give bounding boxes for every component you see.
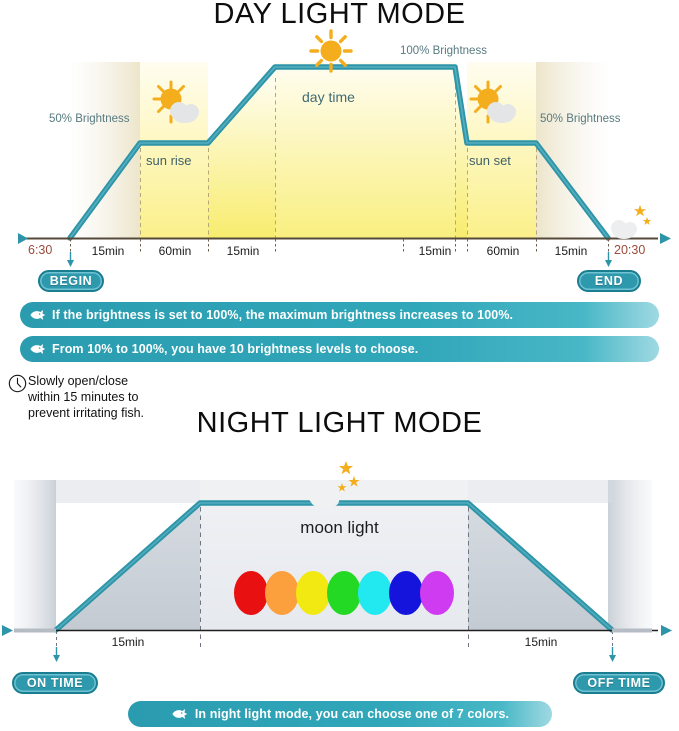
sun-behind-cloud-icon [147, 78, 207, 132]
infographic-root: DAY LIGHT MODE [0, 0, 679, 731]
info-banner[interactable]: If the brightness is set to 100%, the ma… [20, 302, 659, 328]
moon-stars-cloud-icon [607, 200, 655, 242]
begin-badge[interactable]: BEGIN [38, 270, 104, 292]
fish-icon [171, 708, 188, 720]
sun-set-label: sun set [469, 153, 511, 168]
fish-icon [29, 309, 46, 321]
night-info-banner[interactable]: In night light mode, you can choose one … [128, 701, 552, 727]
color-swatch-green[interactable] [327, 571, 361, 615]
segment-label: 60min [144, 244, 206, 258]
color-swatch-yellow[interactable] [296, 571, 330, 615]
segment-label: 15min [510, 635, 572, 649]
color-swatch-blue[interactable] [389, 571, 423, 615]
end-time-label: 20:30 [614, 243, 645, 257]
segment-label: 15min [77, 244, 139, 258]
right-brightness-label: 50% Brightness [540, 113, 621, 125]
peak-brightness-label: 100% Brightness [400, 45, 487, 57]
banner-text: From 10% to 100%, you have 10 brightness… [52, 342, 418, 356]
banner-text: If the brightness is set to 100%, the ma… [52, 308, 513, 322]
info-banner[interactable]: From 10% to 100%, you have 10 brightness… [20, 336, 659, 362]
color-swatch-magenta[interactable] [420, 571, 454, 615]
on-time-badge[interactable]: ON TIME [12, 672, 98, 694]
color-swatch-row [234, 566, 452, 620]
end-badge[interactable]: END [577, 270, 641, 292]
segment-label: 15min [540, 244, 602, 258]
sun-icon [303, 28, 359, 74]
note-line: within 15 minutes to [28, 389, 138, 405]
segment-label: 15min [97, 635, 159, 649]
fish-icon [29, 343, 46, 355]
segment-label: 15min [404, 244, 466, 258]
moon-stars-cloud-icon [302, 459, 366, 513]
sun-behind-cloud-icon [464, 78, 524, 132]
color-swatch-orange[interactable] [265, 571, 299, 615]
color-swatch-cyan[interactable] [358, 571, 392, 615]
left-brightness-label: 50% Brightness [49, 113, 130, 125]
night-mode-title: NIGHT LIGHT MODE [0, 407, 679, 440]
sun-rise-label: sun rise [146, 153, 192, 168]
clock-icon [8, 374, 27, 393]
note-line: Slowly open/close [28, 373, 128, 389]
banner-text: In night light mode, you can choose one … [195, 707, 509, 721]
begin-time-label: 6:30 [28, 243, 52, 257]
segment-label: 15min [212, 244, 274, 258]
segment-label: 60min [472, 244, 534, 258]
day-time-label: day time [302, 89, 355, 105]
color-swatch-red[interactable] [234, 571, 268, 615]
moon-light-label: moon light [0, 518, 679, 538]
off-time-badge[interactable]: OFF TIME [573, 672, 665, 694]
